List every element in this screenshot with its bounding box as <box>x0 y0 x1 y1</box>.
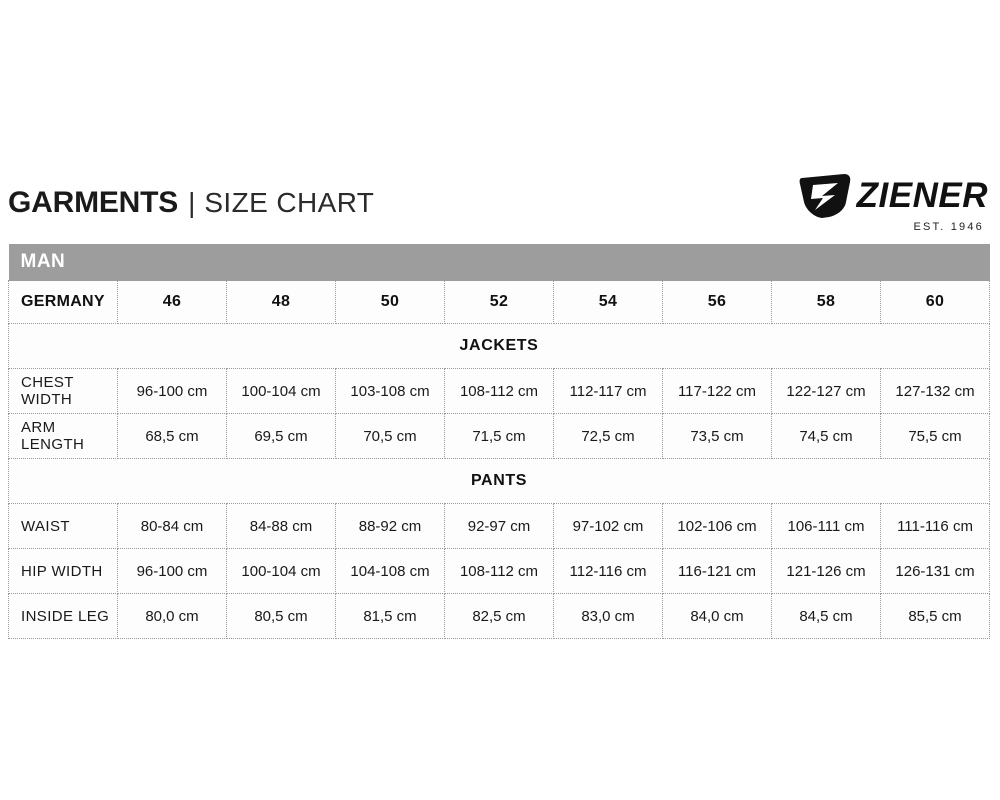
group-header-label: MAN <box>9 244 990 281</box>
size-header-cell: 52 <box>445 281 554 324</box>
table-cell: 83,0 cm <box>554 594 663 639</box>
size-chart-table-wrapper: MAN GERMANY 46 48 50 52 54 56 58 60 JACK… <box>8 244 990 639</box>
table-row: INSIDE LEG 80,0 cm 80,5 cm 81,5 cm 82,5 … <box>9 594 990 639</box>
table-cell: 84-88 cm <box>227 504 336 549</box>
page-header: GARMENTS | SIZE CHART ZIENER EST. 1946 <box>8 172 990 234</box>
table-cell: 100-104 cm <box>227 549 336 594</box>
sizes-header-row: GERMANY 46 48 50 52 54 56 58 60 <box>9 281 990 324</box>
group-header-row: MAN <box>9 244 990 281</box>
table-cell: 84,0 cm <box>663 594 772 639</box>
table-row: CHEST WIDTH 96-100 cm 100-104 cm 103-108… <box>9 369 990 414</box>
table-cell: 96-100 cm <box>118 549 227 594</box>
table-cell: 68,5 cm <box>118 414 227 459</box>
size-header-cell: 56 <box>663 281 772 324</box>
table-cell: 74,5 cm <box>772 414 881 459</box>
size-header-cell: 48 <box>227 281 336 324</box>
table-cell: 117-122 cm <box>663 369 772 414</box>
page-title-separator: | <box>188 187 195 219</box>
ziener-shield-icon <box>799 174 851 218</box>
table-cell: 127-132 cm <box>881 369 990 414</box>
table-cell: 96-100 cm <box>118 369 227 414</box>
table-cell: 108-112 cm <box>445 369 554 414</box>
table-cell: 100-104 cm <box>227 369 336 414</box>
table-cell: 70,5 cm <box>336 414 445 459</box>
table-cell: 73,5 cm <box>663 414 772 459</box>
size-header-cell: 54 <box>554 281 663 324</box>
section-header-row: PANTS <box>9 459 990 504</box>
table-cell: 80,0 cm <box>118 594 227 639</box>
table-row: WAIST 80-84 cm 84-88 cm 88-92 cm 92-97 c… <box>9 504 990 549</box>
row-label: WAIST <box>9 504 118 549</box>
size-chart-page: GARMENTS | SIZE CHART ZIENER EST. 1946 <box>0 0 1000 800</box>
row-label: INSIDE LEG <box>9 594 118 639</box>
table-cell: 84,5 cm <box>772 594 881 639</box>
size-header-cell: 60 <box>881 281 990 324</box>
logo-tagline: EST. 1946 <box>913 221 984 233</box>
table-row: ARM LENGTH 68,5 cm 69,5 cm 70,5 cm 71,5 … <box>9 414 990 459</box>
table-cell: 82,5 cm <box>445 594 554 639</box>
table-cell: 69,5 cm <box>227 414 336 459</box>
table-cell: 104-108 cm <box>336 549 445 594</box>
table-cell: 112-116 cm <box>554 549 663 594</box>
logo-wordmark: ZIENER <box>857 178 988 213</box>
table-cell: 97-102 cm <box>554 504 663 549</box>
table-cell: 80-84 cm <box>118 504 227 549</box>
table-cell: 71,5 cm <box>445 414 554 459</box>
size-chart-body: MAN GERMANY 46 48 50 52 54 56 58 60 JACK… <box>9 244 990 639</box>
table-cell: 80,5 cm <box>227 594 336 639</box>
table-cell: 75,5 cm <box>881 414 990 459</box>
logo-mark-row: ZIENER <box>799 174 988 218</box>
brand-logo: ZIENER EST. 1946 <box>799 174 988 233</box>
row-label: HIP WIDTH <box>9 549 118 594</box>
table-row: HIP WIDTH 96-100 cm 100-104 cm 104-108 c… <box>9 549 990 594</box>
page-title: GARMENTS | SIZE CHART <box>8 186 374 220</box>
section-header-row: JACKETS <box>9 324 990 369</box>
table-cell: 122-127 cm <box>772 369 881 414</box>
table-cell: 111-116 cm <box>881 504 990 549</box>
section-header-label: JACKETS <box>9 324 990 369</box>
table-cell: 126-131 cm <box>881 549 990 594</box>
table-cell: 88-92 cm <box>336 504 445 549</box>
table-cell: 81,5 cm <box>336 594 445 639</box>
page-title-secondary: SIZE CHART <box>204 187 374 219</box>
size-header-cell: 50 <box>336 281 445 324</box>
table-cell: 106-111 cm <box>772 504 881 549</box>
table-cell: 112-117 cm <box>554 369 663 414</box>
sizes-row-label: GERMANY <box>9 281 118 324</box>
table-cell: 92-97 cm <box>445 504 554 549</box>
row-label: ARM LENGTH <box>9 414 118 459</box>
table-cell: 85,5 cm <box>881 594 990 639</box>
table-cell: 72,5 cm <box>554 414 663 459</box>
row-label: CHEST WIDTH <box>9 369 118 414</box>
page-title-primary: GARMENTS <box>8 186 178 220</box>
table-cell: 121-126 cm <box>772 549 881 594</box>
table-cell: 108-112 cm <box>445 549 554 594</box>
table-cell: 103-108 cm <box>336 369 445 414</box>
table-cell: 116-121 cm <box>663 549 772 594</box>
section-header-label: PANTS <box>9 459 990 504</box>
size-chart-table: MAN GERMANY 46 48 50 52 54 56 58 60 JACK… <box>8 244 990 639</box>
table-cell: 102-106 cm <box>663 504 772 549</box>
size-header-cell: 46 <box>118 281 227 324</box>
size-header-cell: 58 <box>772 281 881 324</box>
